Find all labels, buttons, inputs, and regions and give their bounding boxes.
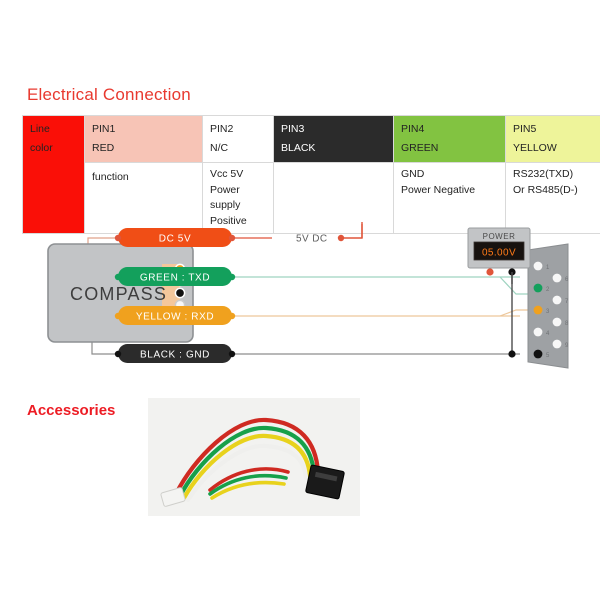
pin2-name: PIN2	[210, 120, 267, 139]
power-module-title: POWER	[483, 232, 516, 241]
pin-assignment-table: Line color PIN1 RED PIN2 N/C PIN3 BLACK …	[22, 115, 600, 234]
signal-pill-green-txd: GREEN : TXD	[118, 267, 232, 286]
cell-pin4-header: PIN4 GREEN	[394, 116, 506, 163]
signal-pill-dc5v: DC 5V	[118, 228, 232, 247]
supply-note-label: 5V DC	[296, 234, 327, 245]
ground-junction-dot	[508, 350, 515, 357]
db9-pin-4	[534, 328, 543, 337]
pin4-name: PIN4	[401, 120, 499, 139]
signal-label-green-txd: GREEN : TXD	[140, 273, 210, 284]
db9-pin-3	[534, 306, 543, 315]
pin4-func-1: RS232(TXD)	[513, 167, 600, 183]
db9-pin-9	[553, 340, 562, 349]
db9-pin-5	[534, 350, 543, 359]
pin3-color: BLACK	[281, 139, 387, 158]
cell-pin3-header: PIN3 BLACK	[274, 116, 394, 163]
row-label-line: Line	[30, 120, 78, 139]
pin5-color: YELLOW	[513, 139, 600, 158]
pin1-func-1: Vcc 5V	[210, 167, 267, 183]
pin4-color: GREEN	[401, 139, 499, 158]
row-label-function-text: function	[92, 167, 196, 188]
pin3-func-2: Power Negative	[401, 183, 499, 199]
signal-label-yellow-rxd: YELLOW : RXD	[136, 312, 214, 323]
pin1-name: PIN1	[92, 120, 196, 139]
pin2-color: N/C	[210, 139, 267, 158]
table-row: Line color PIN1 RED PIN2 N/C PIN3 BLACK …	[23, 116, 600, 163]
compass-pin-3	[175, 288, 184, 297]
signal-label-black-gnd: BLACK : GND	[140, 350, 210, 361]
pin1-func-2: Power supply	[210, 183, 267, 214]
compass-module-label: COMPASS	[70, 284, 167, 304]
cell-pin5-header: PIN5 YELLOW	[506, 116, 600, 163]
pin4-func-2: Or RS485(D-)	[513, 183, 600, 199]
pin1-color: RED	[92, 139, 196, 158]
power-positive-terminal	[486, 268, 493, 275]
db9-pin-6	[553, 274, 562, 283]
power-supply-module: POWER 05.00V	[462, 226, 542, 286]
row-label-line-color: Line color	[23, 116, 85, 234]
signal-label-dc5v: DC 5V	[159, 234, 191, 245]
signal-pill-black-gnd: BLACK : GND	[118, 344, 232, 363]
pin5-name: PIN5	[513, 120, 600, 139]
cell-pin1-header: PIN1 RED	[85, 116, 203, 163]
pin3-name: PIN3	[281, 120, 387, 139]
signal-pill-yellow-rxd: YELLOW : RXD	[118, 306, 232, 325]
page-title: Electrical Connection	[27, 85, 191, 105]
accessory-cable-photo	[148, 398, 360, 516]
accessories-title: Accessories	[27, 402, 115, 419]
power-display-reading: 05.00V	[482, 248, 516, 259]
db9-pin-8	[553, 318, 562, 327]
db9-pin-7	[553, 296, 562, 305]
pin3-func-1: GND	[401, 167, 499, 183]
cell-pin2-header: PIN2 N/C	[203, 116, 274, 163]
row-label-color: color	[30, 139, 78, 158]
